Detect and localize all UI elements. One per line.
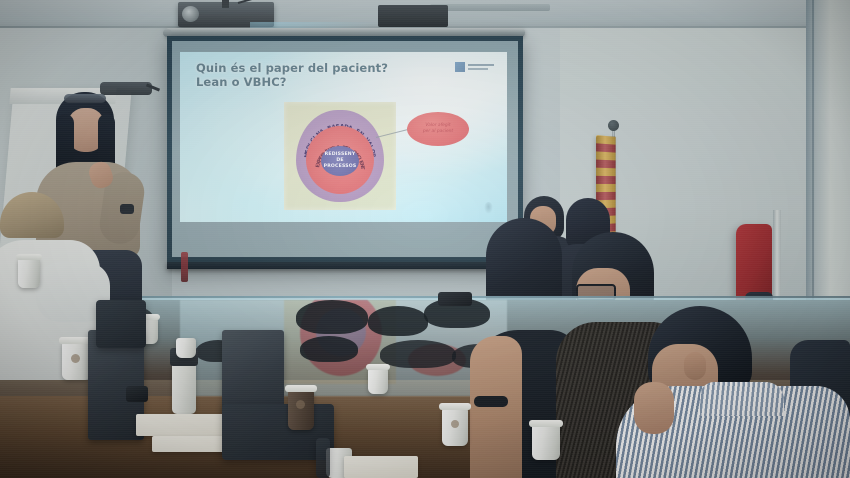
head-reflection-2 — [368, 306, 428, 336]
diagram-inner-circle-label: REDISSENYDE PROCESSOS — [321, 152, 359, 170]
cup-lid — [529, 420, 563, 427]
thermos-flask[interactable] — [172, 362, 196, 414]
callout-line2: per al pacient — [423, 129, 453, 134]
slide-title-line1: Quin és el paper del pacient? — [196, 61, 388, 75]
inner-label-line1: REDISSENY — [325, 152, 356, 157]
projector-body — [378, 5, 448, 27]
diagram-callout-label: Valor afegitper al pacient — [423, 123, 453, 135]
arc-letter: T — [359, 166, 365, 170]
red-object-behind-screen — [181, 252, 188, 282]
slide-title: Quin és el paper del pacient? Lean o VBH… — [196, 62, 416, 89]
logo-mark — [455, 62, 465, 72]
attendee-striped-shirt-ear — [684, 352, 706, 380]
notepad[interactable] — [344, 456, 418, 478]
callout-line1: Valor afegit — [425, 123, 450, 128]
slide-title-line2: Lean o VBHC? — [196, 76, 416, 90]
wristwatch-icon — [120, 204, 134, 214]
cup-logo-icon — [71, 354, 80, 363]
ceiling-vent — [430, 4, 550, 11]
sunglasses-icon — [64, 94, 106, 103]
cup-logo-icon — [296, 400, 305, 409]
institution-logo-icon — [455, 62, 495, 73]
small-dark-object — [316, 438, 330, 478]
attendee-woman-shoulder — [470, 336, 522, 478]
cup-lid — [16, 254, 42, 260]
logo-wordmark-line1 — [468, 64, 494, 66]
hair-tie-bracelet — [474, 396, 508, 407]
projected-slide: Quin és el paper del pacient? Lean o VBH… — [180, 52, 507, 222]
head-reflection-5 — [380, 340, 456, 368]
projector-lens-icon — [182, 6, 199, 22]
striped-shirt-collar — [700, 382, 784, 416]
cup-lid — [439, 403, 471, 410]
slide-diagram-panel: MEDICINA BASADA EN VALOR EXPERIÈNCIA DEL… — [284, 102, 396, 210]
paper-coffee-cup[interactable] — [176, 338, 196, 358]
slide-footer-mark — [484, 202, 493, 214]
diagram-callout-bubble: Valor afegitper al pacient — [407, 112, 469, 146]
cup-lid — [366, 364, 390, 370]
disposable-cup-dark[interactable] — [288, 390, 314, 430]
screen-bottom-bar — [167, 262, 523, 269]
paper-coffee-cup[interactable] — [532, 424, 560, 460]
diagram-inner-circle: REDISSENYDE PROCESSOS — [321, 146, 359, 176]
flag-pole-finial — [608, 120, 619, 131]
attendee-striped-shirt-hand — [634, 382, 674, 434]
head-reflection-1 — [296, 300, 368, 334]
notepad[interactable] — [136, 414, 236, 436]
head-reflection-4 — [300, 336, 358, 362]
logo-wordmark-line2 — [468, 68, 488, 70]
laptop-bag[interactable] — [96, 300, 146, 348]
inner-label-line2: DE PROCESSOS — [324, 158, 357, 169]
paper-coffee-cup[interactable] — [18, 258, 40, 288]
wall-column-edge — [812, 0, 814, 330]
paper-coffee-cup[interactable] — [368, 368, 388, 394]
cup-lid — [285, 385, 317, 392]
conference-room-scene: Quin és el paper del pacient? Lean o VBH… — [0, 0, 850, 478]
smartphone[interactable] — [126, 386, 148, 402]
smartphone[interactable] — [438, 292, 472, 306]
projector-mount — [222, 0, 229, 8]
cup-logo-icon — [451, 420, 459, 428]
